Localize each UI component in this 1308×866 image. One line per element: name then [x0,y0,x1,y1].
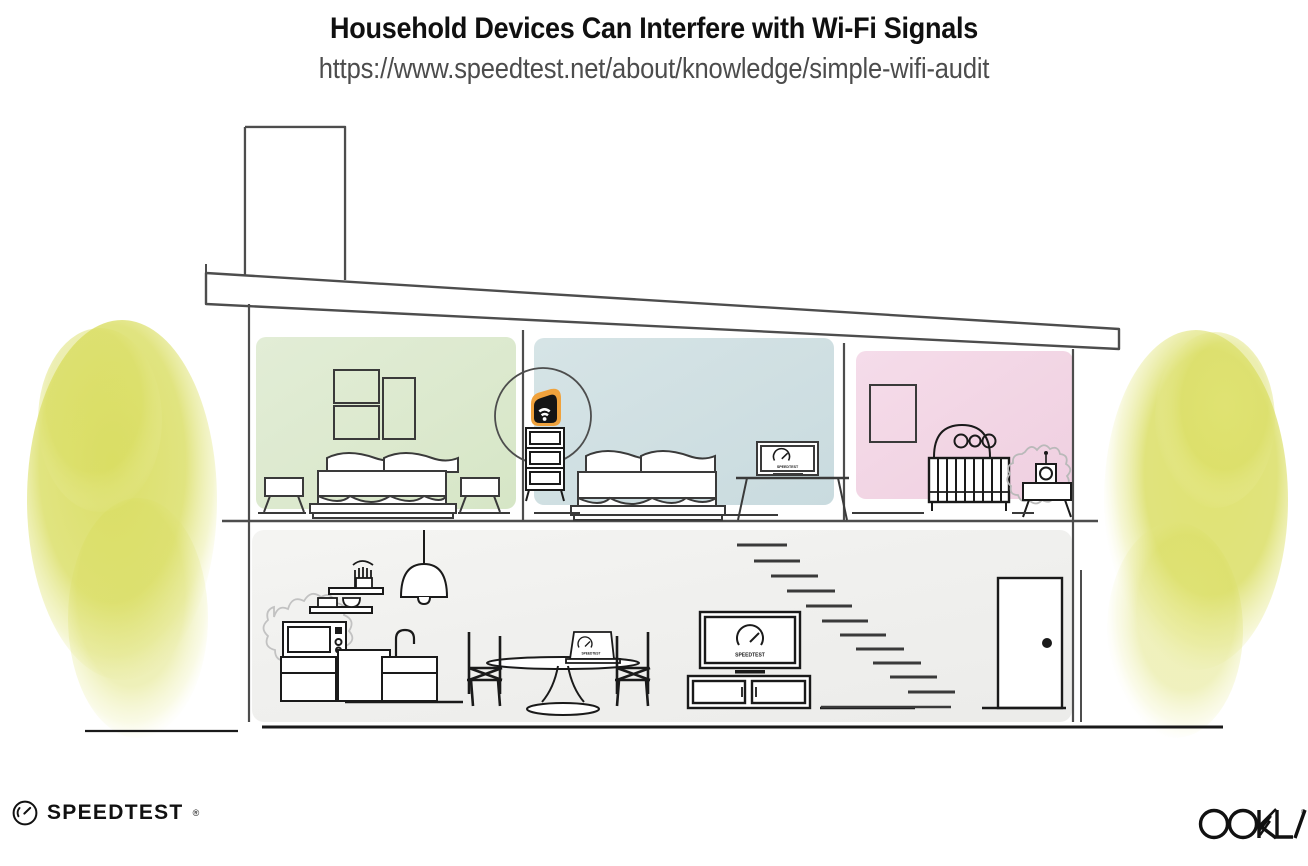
staircase [737,545,955,707]
chimney [245,127,345,280]
dining-table [487,657,639,715]
tv-screen-label: SPEEDTEST [735,653,765,659]
chair-left [467,632,502,706]
laptop-screen-label: SPEEDTEST [582,652,601,656]
nursery-wall-frame [870,385,916,442]
ground-line [85,727,1223,731]
screenshot-root: Household Devices Can Interfere with Wi-… [0,0,1308,861]
microwave [283,622,346,657]
tree-right-foliage [1104,330,1288,738]
room-bedroom-green [256,337,516,509]
entry-door [982,578,1066,708]
wall-shelves [310,588,383,613]
wall-art-frames [334,370,415,439]
television [700,612,800,674]
nightstand-right-green [460,478,500,512]
sink-faucet [396,630,414,657]
wifi-icon [539,408,551,421]
house-illustration: SPEEDTEST [0,0,1308,861]
baby-monitor-interference-burst [1007,445,1070,503]
bed-green [310,453,458,518]
page-title: Household Devices Can Interfere with Wi-… [65,0,1242,48]
tv-speedtest-gauge [737,625,763,645]
microwave-interference-burst [264,594,353,668]
desk-blue [736,478,849,520]
tree-left-foliage [27,320,217,738]
chair-right [615,632,650,706]
pendant-lamp [401,530,447,604]
utensil-pot [353,561,373,588]
coverage-circle [495,368,591,464]
footer-ookla-logo: ® [1197,798,1307,849]
bed-blue [571,451,725,520]
speedtest-gauge-icon [12,800,38,826]
page-url: https://www.speedtest.net/about/knowledg… [78,48,1229,87]
roof [206,264,1119,349]
footer-speedtest-logo: SPEEDTEST ® [12,800,199,826]
laptop-speedtest-gauge [578,637,592,648]
nursery-side-table [1023,483,1071,517]
floor-line-blue [534,513,778,515]
wifi-router-badge [531,389,561,426]
crib [929,458,1009,511]
media-console [688,676,810,708]
house-structure [222,304,1098,722]
monitor-screen-label: SPEEDTEST [777,465,799,469]
kitchen-cabinets [281,650,437,701]
header: Household Devices Can Interfere with Wi-… [0,0,1308,86]
room-bedroom-blue [534,338,834,505]
laptop [566,632,620,663]
bowls [318,598,360,607]
speedtest-wordmark: SPEEDTEST [47,801,184,825]
shelf-unit [526,428,564,501]
room-nursery-pink [856,351,1073,499]
ookla-trademark: ® [1301,809,1306,816]
monitor-speedtest-gauge [774,449,790,461]
room-ground-floor [252,530,1072,722]
nightstand-left-green [264,478,304,512]
crib-mobile [934,425,996,457]
speedtest-trademark: ® [193,808,200,818]
desktop-monitor [757,442,818,476]
baby-monitor [1036,451,1056,483]
